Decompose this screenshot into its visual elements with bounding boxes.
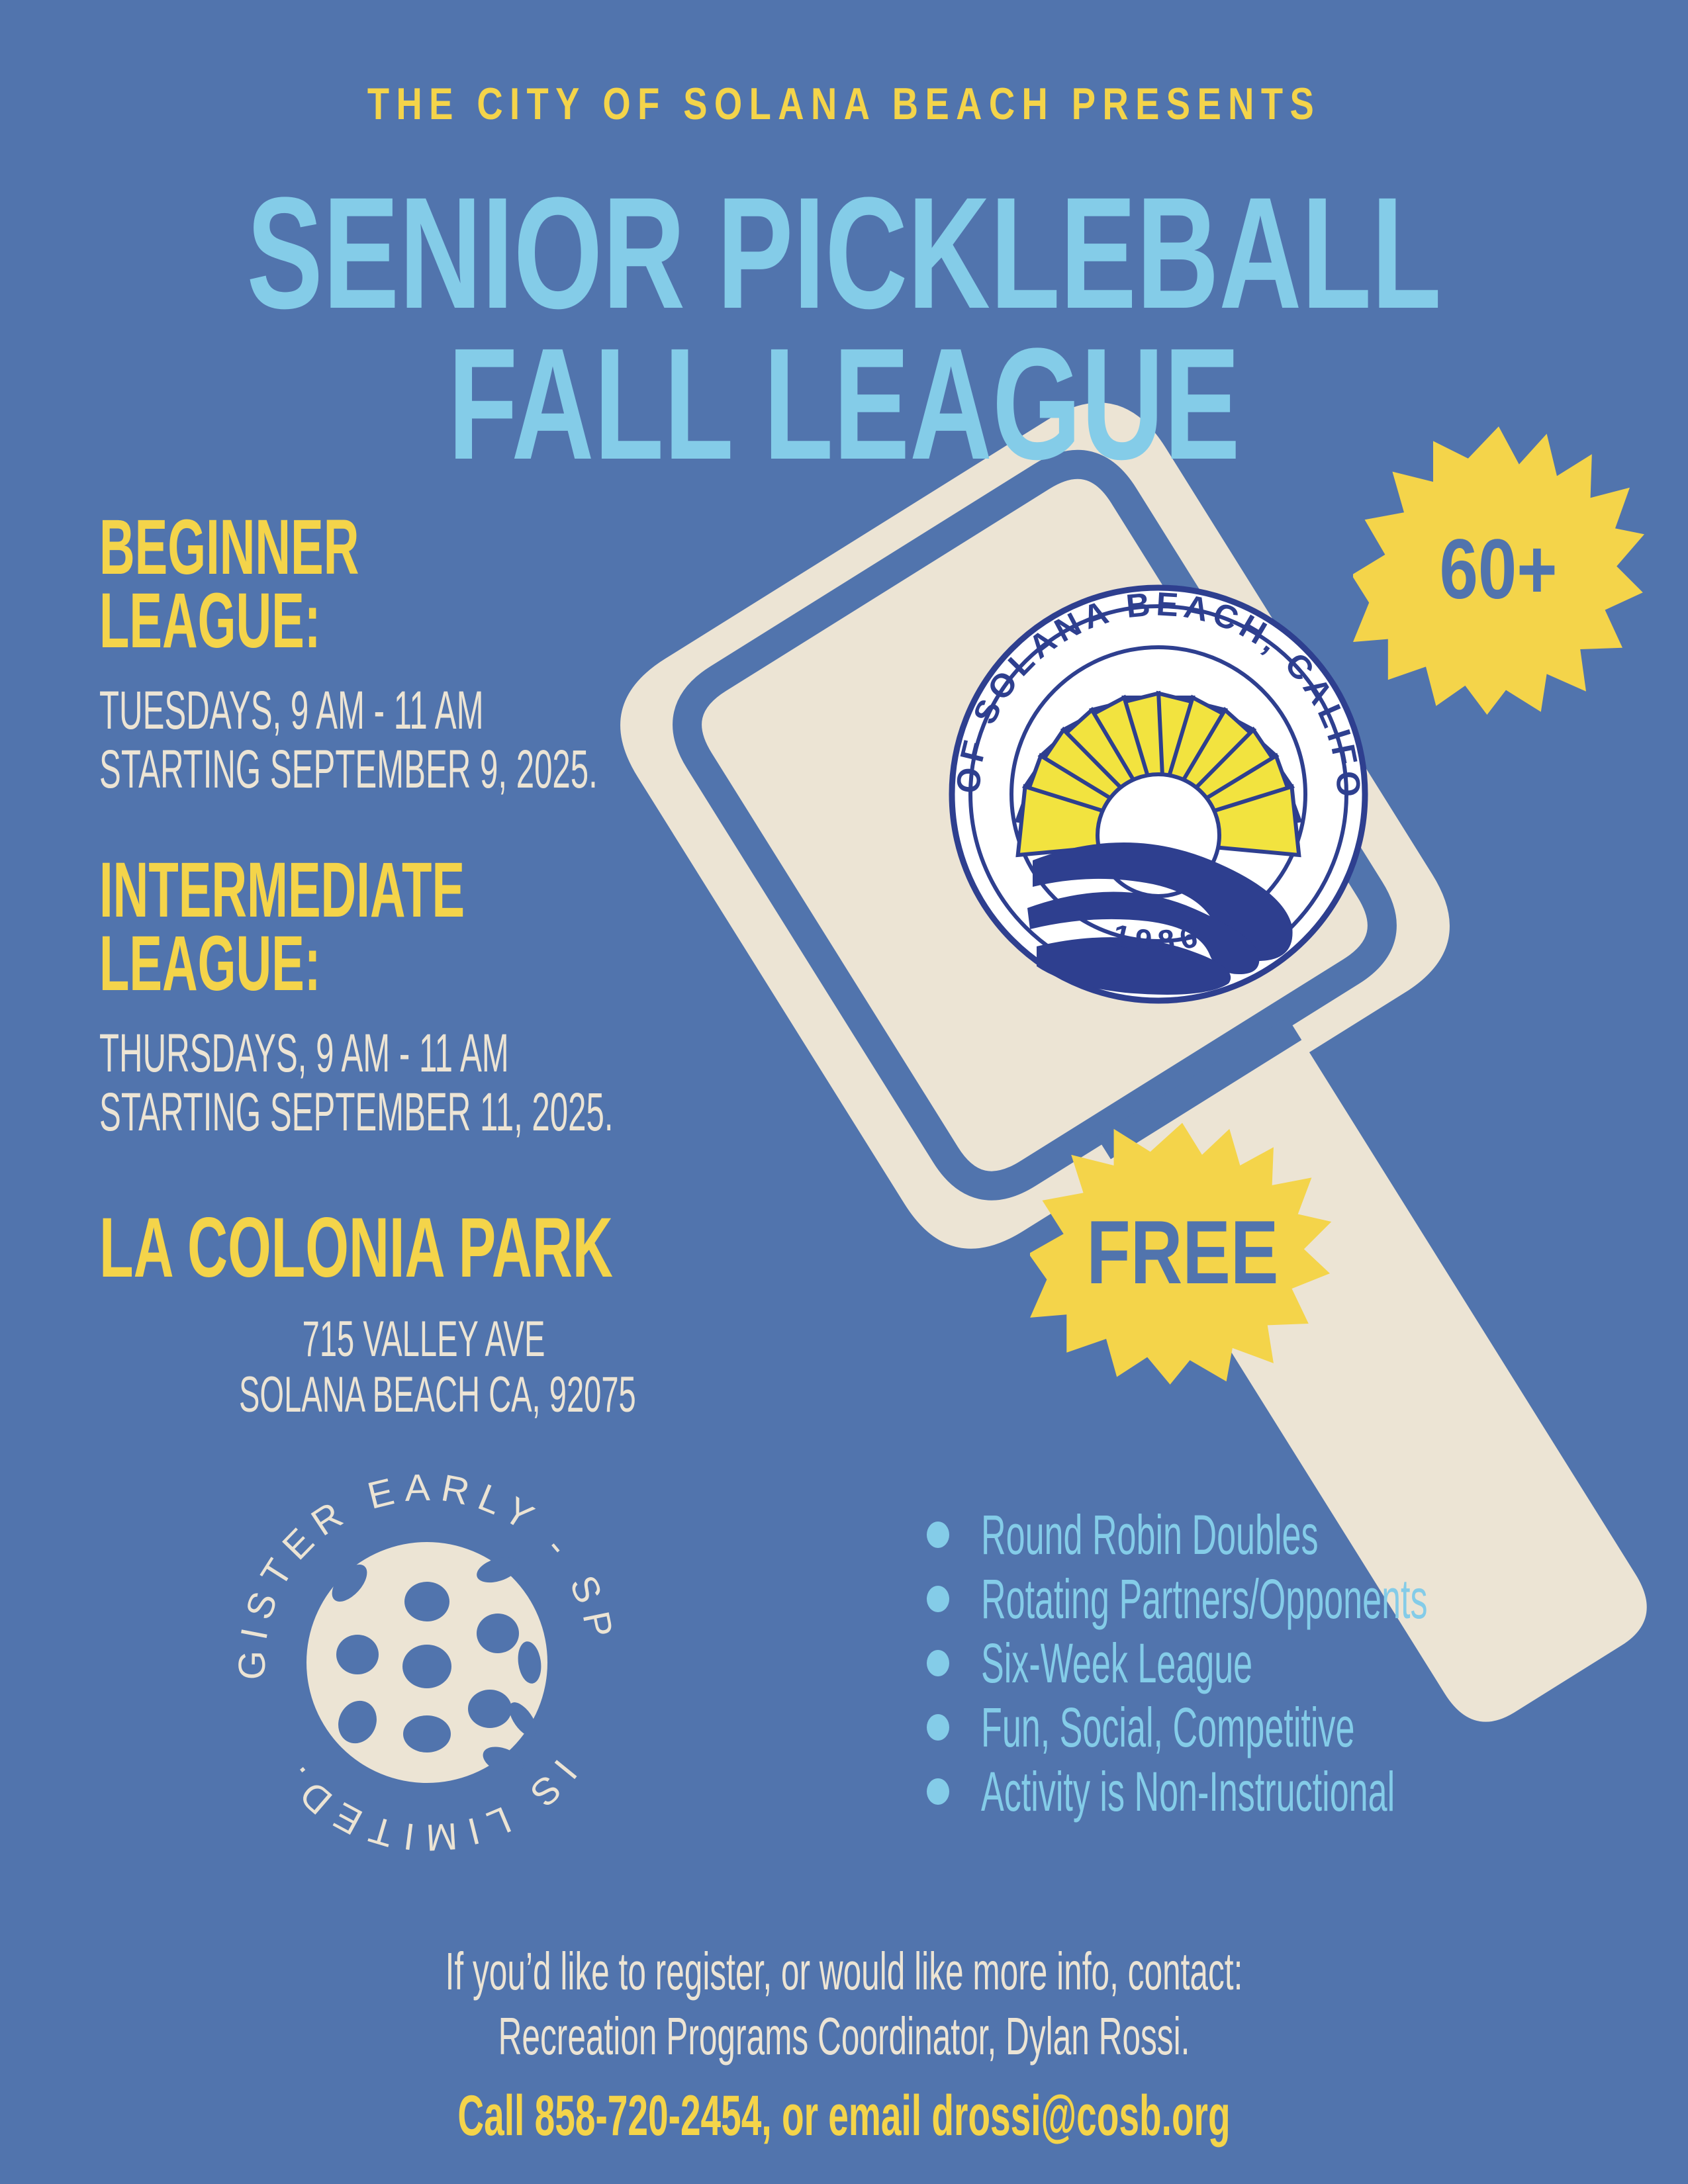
footer-line1: If you’d like to register, or would like… xyxy=(321,1939,1368,2004)
venue-name-text: LA COLONIA PARK xyxy=(99,1206,613,1291)
beginner-league-details: TUESDAYS, 9 AM - 11 AM STARTING SEPTEMBE… xyxy=(99,682,930,799)
price-badge: FREE xyxy=(1030,1120,1335,1385)
bullet-dot-icon xyxy=(927,1522,949,1548)
venue-address-line1: 715 VALLEY AVE xyxy=(239,1312,608,1367)
footer-phone-email: Call 858-720-2454, or email drossi@cosb.… xyxy=(304,2083,1384,2149)
feature-text: Activity is Non-Instructional xyxy=(981,1764,1395,1819)
beginner-detail-line2: STARTING SEPTEMBER 9, 2025. xyxy=(99,741,598,799)
age-badge-text: 60+ xyxy=(1440,521,1558,618)
price-badge-label: FREE xyxy=(1030,1120,1335,1385)
list-item: Fun, Social, Competitive xyxy=(927,1695,1688,1759)
list-item: Six-Week League xyxy=(927,1631,1688,1695)
intermediate-label-line1: INTERMEDIATE xyxy=(99,854,465,927)
footer-contact: If you’d like to register, or would like… xyxy=(0,1939,1688,2068)
poster-canvas: CITY OF SOLANA BEACH, CALIFORNIA 1986 xyxy=(0,0,1688,2184)
beginner-detail-line1: TUESDAYS, 9 AM - 11 AM xyxy=(99,682,598,741)
list-item: Activity is Non-Instructional xyxy=(927,1759,1688,1823)
feature-text: Rotating Partners/Opponents xyxy=(981,1571,1428,1627)
title-line2-text: FALL LEAGUE xyxy=(236,324,1452,483)
age-badge-label: 60+ xyxy=(1353,424,1644,715)
intermediate-label-line2: LEAGUE: xyxy=(99,927,465,1001)
intermediate-detail-line1: THURSDAYS, 9 AM - 11 AM xyxy=(99,1024,614,1083)
bullet-dot-icon xyxy=(927,1586,949,1612)
venue-address-line2: SOLANA BEACH CA, 92075 xyxy=(239,1367,608,1423)
intermediate-league-label: INTERMEDIATE LEAGUE: xyxy=(99,854,679,1001)
bullet-dot-icon xyxy=(927,1778,949,1805)
list-item: Rotating Partners/Opponents xyxy=(927,1567,1688,1631)
feature-text: Six-Week League xyxy=(981,1635,1252,1691)
footer-line2: Recreation Programs Coordinator, Dylan R… xyxy=(321,2004,1368,2069)
price-badge-text: FREE xyxy=(1086,1201,1278,1304)
feature-text: Round Robin Doubles xyxy=(981,1507,1319,1563)
bullet-dot-icon xyxy=(927,1714,949,1741)
venue-name: LA COLONIA PARK xyxy=(99,1206,878,1291)
venue-address: 715 VALLEY AVE SOLANA BEACH CA, 92075 xyxy=(126,1312,722,1422)
intermediate-league-details: THURSDAYS, 9 AM - 11 AM STARTING SEPTEMB… xyxy=(99,1024,956,1142)
feature-text: Fun, Social, Competitive xyxy=(981,1700,1354,1755)
beginner-league-label: BEGINNER LEAGUE: xyxy=(99,511,512,658)
footer-call-to-action[interactable]: Call 858-720-2454, or email drossi@cosb.… xyxy=(0,2083,1688,2149)
presents-text: THE CITY OF SOLANA BEACH PRESENTS xyxy=(169,78,1519,130)
beginner-label-line2: LEAGUE: xyxy=(99,584,359,658)
bullet-dot-icon xyxy=(927,1650,949,1676)
beginner-label-line1: BEGINNER xyxy=(99,511,359,584)
age-badge: 60+ xyxy=(1353,424,1644,715)
list-item: Round Robin Doubles xyxy=(927,1502,1688,1567)
presents-eyebrow: THE CITY OF SOLANA BEACH PRESENTS xyxy=(0,78,1688,130)
title-line1-text: SENIOR PICKLEBALL xyxy=(236,173,1452,332)
intermediate-detail-line2: STARTING SEPTEMBER 11, 2025. xyxy=(99,1083,614,1142)
features-list: Round Robin Doubles Rotating Partners/Op… xyxy=(927,1502,1688,1823)
page-title-line1: SENIOR PICKLEBALL xyxy=(0,173,1688,332)
